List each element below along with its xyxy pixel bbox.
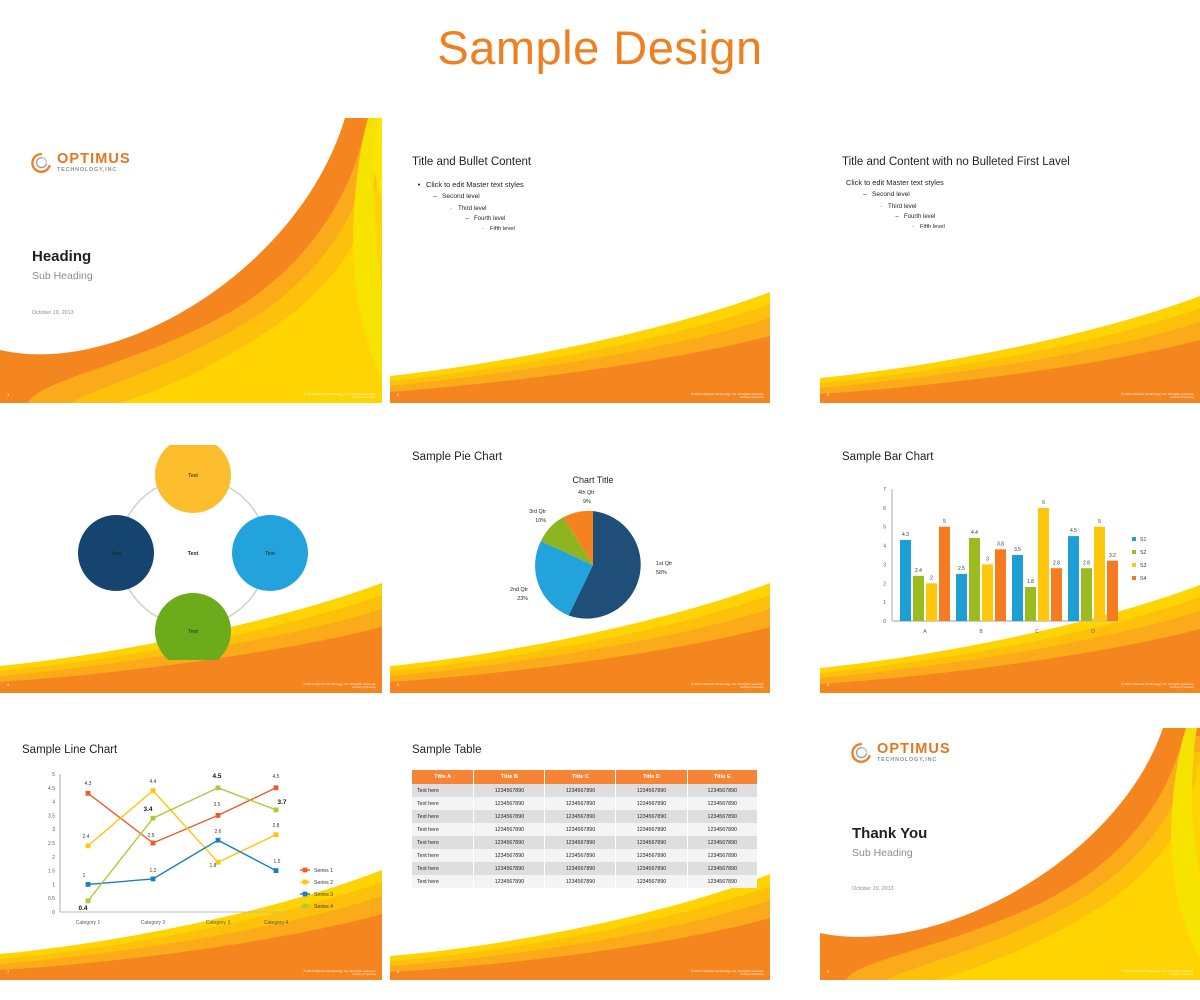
slide-number: 7 [7, 969, 9, 974]
line-label-s2-c3: 1.8 [210, 863, 217, 869]
logo: OPTIMUS TECHNOLOGY,INC [850, 742, 951, 764]
page-title: Sample Design [0, 0, 1200, 100]
svg-text:4: 4 [52, 800, 55, 806]
bar-A-S2[interactable] [913, 576, 924, 621]
line-series-4[interactable]: 0.4 3.4 4.5 3.7 [79, 773, 287, 912]
copyright-line2: Company Proprietary [303, 686, 376, 690]
bar-A-S3[interactable] [926, 583, 937, 621]
table-cell: Text here [412, 823, 474, 836]
line-label-s3-c4: 1.5 [274, 859, 281, 865]
table-header-title-b[interactable]: Title B [474, 770, 545, 784]
slide-title: Sample Pie Chart [412, 451, 502, 463]
diagram-node-label: Text [188, 473, 198, 479]
logo-wordmark: OPTIMUS TECHNOLOGY,INC [57, 152, 131, 173]
line-chart: 0 0.5 1 1.5 2 2.5 3 3.5 4 4.5 5 Cat [14, 760, 354, 950]
footer-copyright: © 2013 Optimus Technology, Inc. All righ… [303, 969, 376, 977]
table-cell: Text here [412, 810, 474, 823]
slide-title: Title and Content with no Bulleted First… [842, 156, 1070, 168]
svg-text:Category 4: Category 4 [264, 920, 289, 926]
bar-label-C-S1: 3.5 [1014, 547, 1021, 553]
bar-B-S2[interactable] [969, 538, 980, 621]
bullet-level-2: – Second level [862, 191, 945, 198]
table-cell: Text here [412, 797, 474, 810]
table-cell: 1234567890 [474, 810, 545, 823]
bar-label-B-S2: 4.4 [971, 530, 978, 536]
footer-copyright: © 2013 Optimus Technology, Inc. All righ… [303, 682, 376, 690]
copyright-line2: Company Proprietary [1121, 973, 1194, 977]
bullet-text: Third level [458, 205, 487, 212]
table-cell: 1234567890 [616, 784, 687, 797]
slide-date: October 19, 2013 [852, 886, 894, 892]
bar-label-C-S3: 6 [1042, 500, 1045, 506]
slide-1-title[interactable]: OPTIMUS TECHNOLOGY,INC Heading Sub Headi… [0, 118, 382, 403]
chart-title: Chart Title [572, 475, 613, 485]
bar-group-B: 2.5 4.4 3 3.8 B [956, 530, 1006, 635]
table-cell: 1234567890 [474, 797, 545, 810]
bullet-text: Click to edit Master text styles [426, 180, 524, 189]
svg-text:6: 6 [883, 506, 886, 512]
bullet-text: Second level [872, 191, 910, 198]
table-row[interactable]: Text here 1234567890 1234567890 12345678… [412, 797, 757, 810]
logo-secondary: TECHNOLOGY,INC [877, 758, 951, 763]
slide-7-line-chart[interactable]: Sample Line Chart 0 0.5 1 1.5 2 2.5 3 3.… [0, 728, 382, 980]
copyright-line2: Company Proprietary [691, 396, 764, 400]
bullet-list: • Click to edit Master text styles – Sec… [416, 180, 524, 236]
table-row[interactable]: Text here 1234567890 1234567890 12345678… [412, 836, 757, 849]
line-label-s2-c2: 4.4 [150, 779, 157, 785]
diagram-node-left[interactable]: Text [78, 515, 154, 591]
line-label-s3-c2: 1.2 [150, 868, 157, 874]
bar-label-A-S1: 4.3 [902, 532, 909, 538]
footer-copyright: © 2013 Optimus Technology, Inc. All righ… [303, 392, 376, 400]
table-cell: Text here [412, 862, 474, 875]
line-label-s1-c1: 4.3 [85, 781, 92, 787]
table-cell: 1234567890 [687, 836, 757, 849]
bar-group-C: 3.5 1.8 6 2.8 C [1012, 500, 1062, 635]
legend-label-S2: S2 [1140, 550, 1146, 556]
table-cell: 1234567890 [545, 823, 616, 836]
svg-text:5: 5 [883, 525, 886, 531]
slide-6-bar-chart[interactable]: Sample Bar Chart 0 1 2 3 4 5 6 7 [820, 435, 1200, 693]
bullet-level-3: · Third level [448, 205, 524, 212]
sample-table: Title A Title B Title C Title D Title E … [412, 770, 757, 888]
slide-heading: Heading [32, 248, 91, 265]
bar-D-S1[interactable] [1068, 536, 1079, 621]
table-header-title-a[interactable]: Title A [412, 770, 474, 784]
bullet-level-4: – Fourth level [894, 214, 945, 220]
table-cell: 1234567890 [616, 836, 687, 849]
table-cell: 1234567890 [616, 875, 687, 888]
slide-cell-7: Sample Line Chart 0 0.5 1 1.5 2 2.5 3 3.… [0, 693, 390, 980]
pie-label-4th-qtr-name: 4th Qtr [578, 490, 595, 496]
bar-A-S4[interactable] [939, 527, 950, 621]
slide-title: Title and Bullet Content [412, 156, 531, 168]
table-cell: 1234567890 [545, 862, 616, 875]
line-label-s2-c4: 2.8 [273, 823, 280, 829]
bar-C-S4[interactable] [1051, 568, 1062, 621]
legend-label-series-1: Series 1 [314, 868, 333, 874]
legend-label-series-2: Series 2 [314, 880, 333, 886]
bullet-level-1: Click to edit Master text styles [846, 178, 945, 187]
legend-label-S3: S3 [1140, 563, 1146, 569]
diagram-node-top[interactable]: Text [155, 445, 231, 513]
bar-label-B-S3: 3 [986, 557, 989, 563]
bullet-marker: · [878, 203, 884, 210]
footer-copyright: © 2013 Optimus Technology, Inc. All righ… [1121, 392, 1194, 400]
table-cell: 1234567890 [687, 823, 757, 836]
pie-label-1st-qtr-value: 58% [656, 570, 667, 576]
legend-swatch-S4 [1132, 576, 1136, 580]
legend-swatch-series-3 [303, 892, 308, 897]
line-label-s4-c3: 4.5 [213, 773, 222, 780]
table-cell: 1234567890 [616, 862, 687, 875]
logo-primary: OPTIMUS [57, 152, 131, 167]
table-cell: 1234567890 [545, 849, 616, 862]
bullet-text: Click to edit Master text styles [846, 178, 944, 187]
slide-number: 6 [827, 682, 829, 687]
diagram-node-label: Text [111, 551, 121, 557]
bar-label-D-S3: 5 [1098, 519, 1101, 525]
slide-2-bullets[interactable]: Title and Bullet Content • Click to edit… [390, 140, 770, 403]
copyright-line2: Company Proprietary [691, 973, 764, 977]
slide-number: 3 [827, 392, 829, 397]
bar-label-C-S2: 1.8 [1027, 579, 1034, 585]
slide-number: 1 [7, 392, 9, 397]
table-cell: 1234567890 [545, 797, 616, 810]
bullet-level-3: · Third level [878, 203, 945, 210]
table-cell: 1234567890 [474, 862, 545, 875]
bar-xtick-A: A [923, 629, 927, 635]
bullet-text: Fourth level [474, 216, 505, 222]
bullet-marker: · [910, 224, 916, 230]
slide-4-diagram[interactable]: Text Text Text Text Text [0, 435, 382, 693]
bar-label-D-S1: 4.5 [1070, 528, 1077, 534]
table-cell: 1234567890 [545, 810, 616, 823]
bar-D-S2[interactable] [1081, 568, 1092, 621]
table-cell: 1234567890 [616, 849, 687, 862]
slide-cell-8: Sample Table Title A Title B Title C Tit… [390, 693, 808, 980]
svg-text:0.5: 0.5 [48, 896, 55, 902]
svg-text:Category 1: Category 1 [76, 920, 101, 926]
bullet-marker: – [432, 193, 438, 200]
bar-xtick-C: C [1035, 629, 1039, 635]
footer-copyright: © 2013 Optimus Technology, Inc. All righ… [1121, 682, 1194, 690]
svg-text:1: 1 [52, 882, 55, 888]
copyright-line2: Company Proprietary [1121, 396, 1194, 400]
pie-label-4th-qtr-value: 9% [583, 499, 591, 505]
slide-8-table[interactable]: Sample Table Title A Title B Title C Tit… [390, 728, 770, 980]
line-label-s3-c3: 2.6 [215, 829, 222, 835]
slide-title: Sample Line Chart [22, 744, 117, 756]
line-label-s1-c4: 4.5 [273, 774, 280, 780]
table-cell: Text here [412, 836, 474, 849]
table-cell: 1234567890 [474, 836, 545, 849]
slide-date: October 19, 2013 [32, 310, 74, 316]
svg-text:7: 7 [883, 487, 886, 493]
bullet-marker: • [416, 180, 422, 189]
bar-C-S2[interactable] [1025, 587, 1036, 621]
table-row[interactable]: Text here 1234567890 1234567890 12345678… [412, 823, 757, 836]
x-axis-ticks: Category 1 Category 2 Category 3 Categor… [76, 920, 289, 926]
line-series-2[interactable]: 2.4 4.4 1.8 2.8 [83, 779, 280, 869]
line-label-s3-c1: 1 [83, 873, 86, 879]
table-cell: Text here [412, 784, 474, 797]
bullet-level-4: – Fourth level [464, 216, 524, 222]
svg-text:0: 0 [52, 910, 55, 916]
svg-text:2.5: 2.5 [48, 841, 55, 847]
bar-B-S3[interactable] [982, 564, 993, 621]
footer-copyright: © 2013 Optimus Technology, Inc. All righ… [691, 969, 764, 977]
cycle-diagram: Text Text Text Text Text [48, 445, 338, 660]
table-cell: 1234567890 [474, 823, 545, 836]
bullet-text: Fourth level [904, 214, 935, 220]
table-cell: 1234567890 [616, 797, 687, 810]
slide-number: 5 [397, 682, 399, 687]
slide-subheading: Sub Heading [32, 270, 93, 282]
bar-D-S4[interactable] [1107, 561, 1118, 621]
line-label-s4-c2: 3.4 [144, 806, 153, 813]
table-header-row: Title A Title B Title C Title D Title E [412, 770, 757, 784]
line-label-s4-c1: 0.4 [79, 905, 88, 912]
svg-text:1.5: 1.5 [48, 869, 55, 875]
bullet-marker: – [862, 191, 868, 198]
bar-label-D-S4: 3.2 [1109, 553, 1116, 559]
slide-cell-6: Sample Bar Chart 0 1 2 3 4 5 6 7 [808, 405, 1200, 693]
bar-chart: 0 1 2 3 4 5 6 7 4.3 [844, 473, 1174, 653]
table-cell: 1234567890 [474, 875, 545, 888]
bar-group-D: 4.5 2.8 5 3.2 D [1068, 519, 1118, 635]
table-cell: Text here [412, 875, 474, 888]
bar-B-S1[interactable] [956, 574, 967, 621]
bullet-level-2: – Second level [432, 193, 524, 200]
svg-text:4: 4 [883, 544, 886, 550]
slide-number: 9 [827, 969, 829, 974]
line-label-s1-c2: 2.5 [148, 833, 155, 839]
svg-text:Category 3: Category 3 [206, 920, 231, 926]
pie-label-2nd-qtr-name: 2nd Qtr [510, 587, 528, 593]
line-label-s1-c3: 3.5 [214, 802, 221, 808]
y-axis-ticks: 0 1 2 3 4 5 6 7 [883, 487, 886, 625]
pie-chart: Chart Title 1st Qtr 58% 2nd Qtr 23% 3rd … [480, 469, 730, 649]
slide-cell-2: Title and Bullet Content • Click to edit… [390, 118, 808, 405]
copyright-line2: Company Proprietary [691, 686, 764, 690]
slide-cell-1: OPTIMUS TECHNOLOGY,INC Heading Sub Headi… [0, 118, 390, 405]
bar-B-S4[interactable] [995, 549, 1006, 621]
bar-label-D-S2: 2.8 [1083, 561, 1090, 567]
table-row[interactable]: Text here 1234567890 1234567890 12345678… [412, 810, 757, 823]
slide-title: Sample Table [412, 744, 481, 756]
slide-subheading: Sub Heading [852, 847, 913, 859]
bar-C-S1[interactable] [1012, 555, 1023, 621]
bar-label-C-S4: 2.8 [1053, 561, 1060, 567]
bullet-list: Click to edit Master text styles – Secon… [846, 178, 945, 234]
svg-text:2: 2 [883, 581, 886, 587]
line-series-3[interactable]: 1 1.2 2.6 1.5 [83, 829, 281, 887]
pie-label-3rd-qtr-name: 3rd Qtr [529, 509, 546, 515]
legend-label-series-3: Series 3 [314, 892, 333, 898]
bar-label-B-S1: 2.5 [958, 566, 965, 572]
legend-swatch-series-4 [303, 904, 308, 909]
footer-copyright: © 2013 Optimus Technology, Inc. All righ… [691, 682, 764, 690]
bar-group-A: 4.3 2.4 2 5 A [900, 519, 950, 635]
slide-number: 4 [7, 682, 9, 687]
legend-label-series-4: Series 4 [314, 904, 333, 910]
bullet-level-1: • Click to edit Master text styles [416, 180, 524, 189]
table-header-title-c[interactable]: Title C [545, 770, 616, 784]
bullet-marker: · [448, 205, 454, 212]
copyright-line2: Company Proprietary [303, 973, 376, 977]
bullet-text: Third level [888, 203, 917, 210]
slide-cell-5: Sample Pie Chart Chart Title 1st Qtr 58%… [390, 405, 808, 693]
legend-swatch-S1 [1132, 537, 1136, 541]
bullet-level-5: · Fifth level [480, 226, 524, 232]
table-cell: 1234567890 [545, 836, 616, 849]
svg-text:Category 2: Category 2 [141, 920, 166, 926]
bar-A-S1[interactable] [900, 540, 911, 621]
diagram-node-label: Text [265, 551, 275, 557]
line-label-s4-c4: 3.7 [278, 799, 287, 806]
footer-copyright: © 2013 Optimus Technology, Inc. All righ… [691, 392, 764, 400]
bar-xtick-B: B [979, 629, 983, 635]
slide-9-thank-you[interactable]: OPTIMUS TECHNOLOGY,INC Thank You Sub Hea… [820, 728, 1200, 980]
logo-secondary: TECHNOLOGY,INC [57, 168, 131, 173]
diagram-node-bottom[interactable]: Text [155, 593, 231, 660]
table-row[interactable]: Text here 1234567890 1234567890 12345678… [412, 875, 757, 888]
line-series-1[interactable]: 4.3 2.5 3.5 4.5 [85, 774, 280, 845]
svg-text:5: 5 [52, 772, 55, 778]
logo-primary: OPTIMUS [877, 742, 951, 757]
optimus-swirl-icon [850, 742, 872, 764]
table-cell: 1234567890 [545, 784, 616, 797]
svg-text:3: 3 [883, 562, 886, 568]
table-row[interactable]: Text here 1234567890 1234567890 12345678… [412, 862, 757, 875]
table-cell: 1234567890 [545, 875, 616, 888]
bar-label-A-S2: 2.4 [915, 568, 922, 574]
table-cell: 1234567890 [687, 849, 757, 862]
legend-swatch-S2 [1132, 550, 1136, 554]
slide-cell-3: Title and Content with no Bulleted First… [808, 118, 1200, 405]
table-cell: 1234567890 [474, 849, 545, 862]
bar-C-S3[interactable] [1038, 508, 1049, 621]
logo: OPTIMUS TECHNOLOGY,INC [30, 152, 131, 174]
table-cell: 1234567890 [687, 784, 757, 797]
bar-xtick-D: D [1091, 629, 1095, 635]
table-cell: 1234567890 [687, 875, 757, 888]
bar-label-A-S4: 5 [943, 519, 946, 525]
svg-text:0: 0 [883, 619, 886, 625]
bullet-marker: · [480, 226, 486, 232]
y-axis-ticks: 0 0.5 1 1.5 2 2.5 3 3.5 4 4.5 5 [48, 772, 55, 916]
bar-D-S3[interactable] [1094, 527, 1105, 621]
svg-text:4.5: 4.5 [48, 786, 55, 792]
svg-text:2: 2 [52, 855, 55, 861]
table-cell: 1234567890 [687, 810, 757, 823]
legend-label-S4: S4 [1140, 576, 1146, 582]
legend-label-S1: S1 [1140, 537, 1146, 543]
pie-label-1st-qtr-name: 1st Qtr [656, 561, 672, 567]
slide-heading: Thank You [852, 825, 927, 842]
diagram-node-right[interactable]: Text [232, 515, 308, 591]
bar-label-A-S3: 2 [930, 576, 933, 582]
optimus-swirl-icon [30, 152, 52, 174]
slide-title: Sample Bar Chart [842, 451, 933, 463]
slide-number: 2 [397, 392, 399, 397]
bullet-text: Second level [442, 193, 480, 200]
bar-chart-legend: S1 S2 S3 S4 [1132, 537, 1146, 582]
bullet-marker: – [894, 214, 900, 220]
slide-3-bullets-nofirst[interactable]: Title and Content with no Bulleted First… [820, 140, 1200, 403]
bullet-text: Fifth level [920, 224, 945, 230]
svg-text:3: 3 [52, 827, 55, 833]
table-cell: 1234567890 [687, 797, 757, 810]
line-chart-legend: Series 1 Series 2 Series 3 Series 4 [300, 868, 333, 910]
logo-wordmark: OPTIMUS TECHNOLOGY,INC [877, 742, 951, 763]
legend-swatch-S3 [1132, 563, 1136, 567]
diagram-center-label: Text [188, 551, 199, 557]
svg-text:3.5: 3.5 [48, 813, 55, 819]
table-cell: 1234567890 [616, 810, 687, 823]
bullet-marker: – [464, 216, 470, 222]
legend-swatch-series-1 [303, 868, 308, 873]
footer-copyright: © 2013 Optimus Technology, Inc. All righ… [1121, 969, 1194, 977]
diagram-node-label: Text [188, 629, 198, 635]
pie-label-2nd-qtr-value: 23% [517, 596, 528, 602]
copyright-line2: Company Proprietary [1121, 686, 1194, 690]
line-label-s2-c1: 2.4 [83, 834, 90, 840]
table-cell: 1234567890 [616, 823, 687, 836]
bar-label-B-S4: 3.8 [997, 542, 1004, 548]
svg-text:1: 1 [883, 600, 886, 606]
copyright-line2: Company Proprietary [303, 396, 376, 400]
table-cell: 1234567890 [474, 784, 545, 797]
bullet-level-5: · Fifth level [910, 224, 945, 230]
legend-swatch-series-2 [303, 880, 308, 885]
table-cell: 1234567890 [687, 862, 757, 875]
table-header-title-d[interactable]: Title D [616, 770, 687, 784]
slide-grid: OPTIMUS TECHNOLOGY,INC Heading Sub Headi… [0, 118, 1200, 1000]
slide-number: 8 [397, 969, 399, 974]
table-cell: Text here [412, 849, 474, 862]
table-row[interactable]: Text here 1234567890 1234567890 12345678… [412, 849, 757, 862]
slide-cell-9: OPTIMUS TECHNOLOGY,INC Thank You Sub Hea… [808, 693, 1200, 980]
bullet-text: Fifth level [490, 226, 515, 232]
table-header-title-e[interactable]: Title E [687, 770, 757, 784]
slide-5-pie-chart[interactable]: Sample Pie Chart Chart Title 1st Qtr 58%… [390, 435, 770, 693]
table-row[interactable]: Text here 1234567890 1234567890 12345678… [412, 784, 757, 797]
slide-cell-4: Text Text Text Text Text [0, 405, 390, 693]
pie-label-3rd-qtr-value: 10% [535, 518, 546, 524]
